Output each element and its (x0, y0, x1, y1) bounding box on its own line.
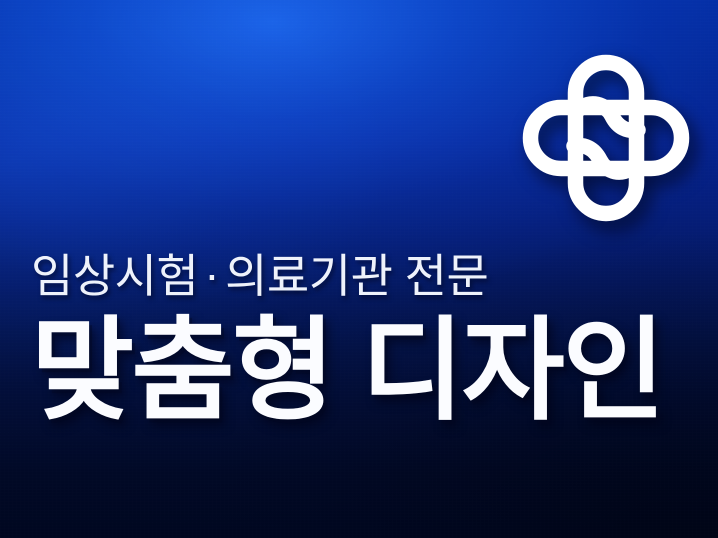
subtitle-segment-one: 임상시험 (31, 250, 198, 302)
promo-banner: 임상시험·의료기관 전문 맞춤형 디자인 (0, 0, 718, 538)
banner-headline: 맞춤형 디자인 (31, 315, 703, 427)
headline-group: 임상시험·의료기관 전문 맞춤형 디자인 (31, 252, 703, 427)
subtitle-segment-two: 의료기관 전문 (225, 250, 488, 302)
brand-logo (520, 52, 692, 224)
interlocking-cross-icon (520, 52, 692, 224)
banner-subtitle: 임상시험·의료기관 전문 (31, 252, 703, 301)
subtitle-separator-dot: · (198, 250, 225, 299)
